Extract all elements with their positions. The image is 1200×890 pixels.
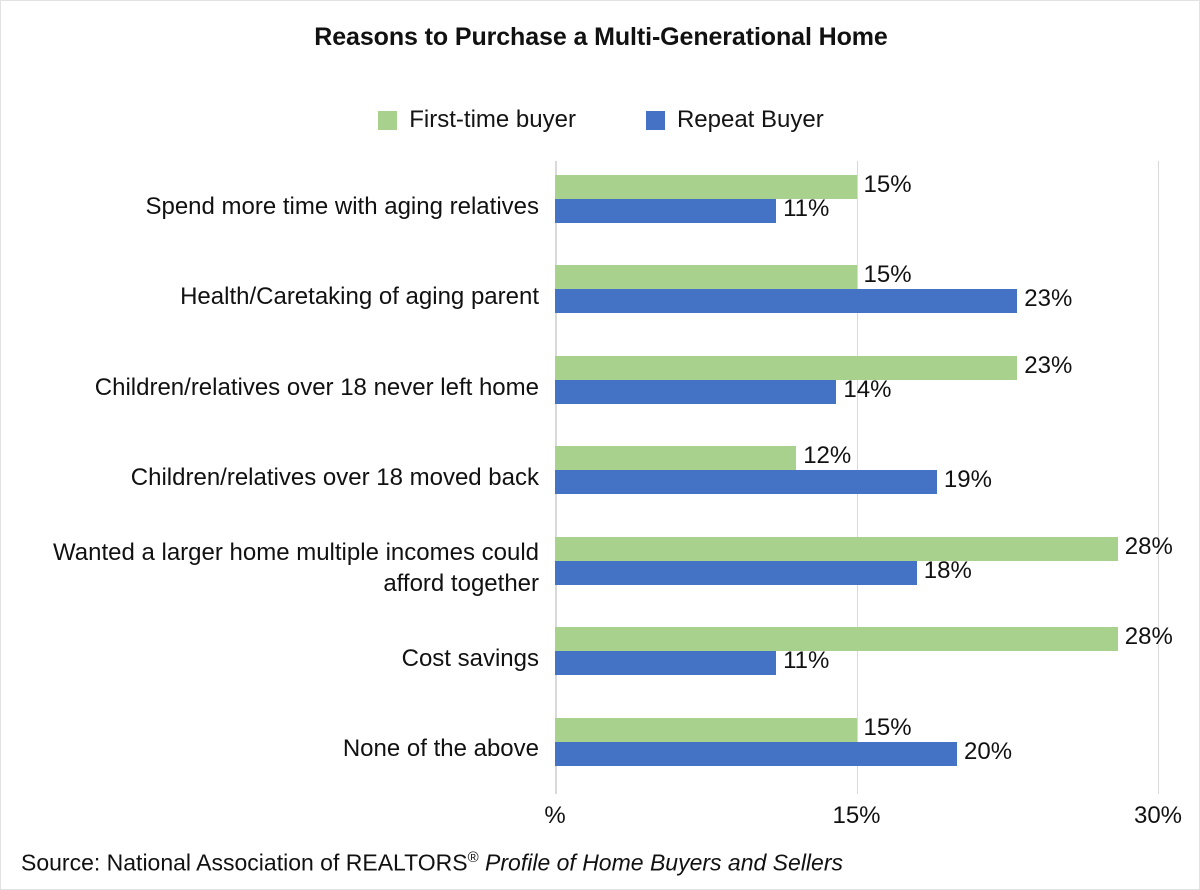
category-label: Cost savings <box>1 643 539 674</box>
bar-data-label: 23% <box>1017 354 1072 378</box>
bar-data-label: 20% <box>957 740 1012 764</box>
bar-data-label: 15% <box>857 173 912 197</box>
plot-area: Spend more time with aging relatives15%1… <box>555 161 1158 794</box>
bar-data-label: 15% <box>857 716 912 740</box>
bar-group: Wanted a larger home multiple incomes co… <box>555 523 1158 613</box>
category-label: Spend more time with aging relatives <box>1 191 539 222</box>
bar-repeat-buyer[interactable] <box>555 289 1017 313</box>
bar-data-label: 11% <box>776 197 829 221</box>
category-label: None of the above <box>1 733 539 764</box>
gridline <box>1158 161 1159 794</box>
bar-repeat-buyer[interactable] <box>555 199 776 223</box>
bar-group: Health/Caretaking of aging parent15%23% <box>555 251 1158 341</box>
bar-first-time-buyer[interactable] <box>555 537 1118 561</box>
bar-data-label: 18% <box>917 559 972 583</box>
category-label: Health/Caretaking of aging parent <box>1 281 539 312</box>
bar-first-time-buyer[interactable] <box>555 718 857 742</box>
category-label: Wanted a larger home multiple incomes co… <box>1 537 539 599</box>
bar-data-label: 28% <box>1118 535 1173 559</box>
chart-title: Reasons to Purchase a Multi-Generational… <box>1 23 1200 52</box>
source-publication: Profile of Home Buyers and Sellers <box>485 850 843 876</box>
bar-data-label: 15% <box>857 263 912 287</box>
registered-trademark-icon: ® <box>468 849 479 866</box>
bar-first-time-buyer[interactable] <box>555 356 1017 380</box>
bar-repeat-buyer[interactable] <box>555 742 957 766</box>
category-label: Children/relatives over 18 moved back <box>1 462 539 493</box>
category-label: Children/relatives over 18 never left ho… <box>1 372 539 403</box>
legend-entry-first-time-buyer[interactable]: First-time buyer <box>378 106 576 134</box>
x-tick-label: 15% <box>832 802 880 830</box>
chart-legend: First-time buyer Repeat Buyer <box>1 106 1200 134</box>
source-prefix: Source: National Association of REALTORS <box>21 850 468 876</box>
bar-repeat-buyer[interactable] <box>555 651 776 675</box>
chart-container: Reasons to Purchase a Multi-Generational… <box>0 0 1200 890</box>
bar-data-label: 12% <box>796 444 851 468</box>
bar-group: Spend more time with aging relatives15%1… <box>555 161 1158 251</box>
bar-repeat-buyer[interactable] <box>555 561 917 585</box>
bar-group: None of the above15%20% <box>555 704 1158 794</box>
legend-entry-repeat-buyer[interactable]: Repeat Buyer <box>646 106 824 134</box>
legend-label-first-time-buyer: First-time buyer <box>409 106 576 134</box>
bar-data-label: 23% <box>1017 287 1072 311</box>
source-note: Source: National Association of REALTORS… <box>21 849 843 877</box>
bar-data-label: 11% <box>776 649 829 673</box>
bar-first-time-buyer[interactable] <box>555 627 1118 651</box>
bar-data-label: 14% <box>836 378 891 402</box>
legend-label-repeat-buyer: Repeat Buyer <box>677 106 824 134</box>
bar-group: Children/relatives over 18 moved back12%… <box>555 432 1158 522</box>
legend-swatch-repeat-buyer <box>646 111 665 130</box>
bar-group: Cost savings28%11% <box>555 613 1158 703</box>
legend-swatch-first-time-buyer <box>378 111 397 130</box>
bar-data-label: 19% <box>937 468 992 492</box>
bar-first-time-buyer[interactable] <box>555 446 796 470</box>
x-tick-label: % <box>544 802 565 830</box>
bar-group: Children/relatives over 18 never left ho… <box>555 342 1158 432</box>
bar-repeat-buyer[interactable] <box>555 380 836 404</box>
bar-repeat-buyer[interactable] <box>555 470 937 494</box>
bar-first-time-buyer[interactable] <box>555 265 857 289</box>
x-tick-label: 30% <box>1134 802 1182 830</box>
bar-data-label: 28% <box>1118 625 1173 649</box>
